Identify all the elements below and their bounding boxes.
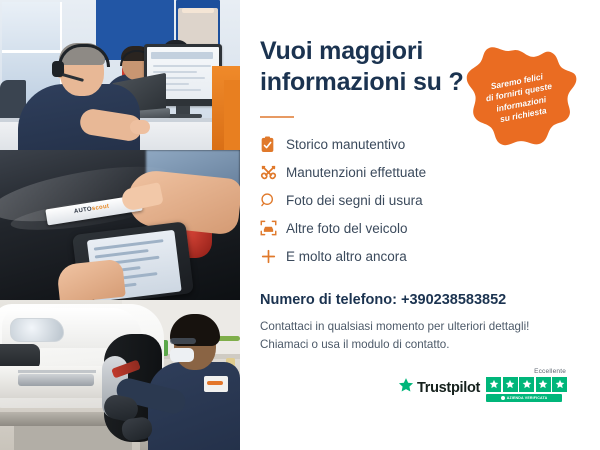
feature-label: E molto altro ancora [286, 249, 407, 264]
trustpilot-rating: Eccellente [486, 368, 567, 402]
phone-number[interactable]: +390238583852 [401, 292, 506, 308]
mechanic-inspecting-wheel-photo [0, 300, 240, 450]
plus-icon [260, 245, 286, 267]
rating-star [519, 377, 534, 392]
promo-card: AUTOscout [0, 0, 600, 450]
contact-subtext-line1: Contattaci in qualsiasi momento per ulte… [260, 318, 576, 336]
feature-label: Manutenzioni effettuate [286, 165, 426, 180]
tools-cross-icon [260, 161, 286, 183]
magnifier-icon [260, 189, 286, 211]
page-title-line2: informazioni su ? [260, 68, 464, 96]
rating-stars [486, 377, 567, 392]
contact-subtext: Contattaci in qualsiasi momento per ulte… [260, 318, 576, 354]
verified-check-icon [501, 396, 505, 400]
trustpilot-logo: Trustpilot [398, 377, 480, 398]
vehicle-inspection-with-tablet-photo: AUTOscout [0, 150, 240, 300]
phone-label: Numero di telefono: [260, 292, 401, 308]
feature-item-storico-manutentivo[interactable]: Storico manutentivo [260, 130, 560, 158]
feature-label: Altre foto del veicolo [286, 221, 408, 236]
verified-business-badge: AZIENDA VERIFICATA [486, 394, 562, 402]
photo-column: AUTOscout [0, 0, 240, 450]
feature-label: Foto dei segni di usura [286, 193, 423, 208]
trustpilot-wordmark: Trustpilot [417, 380, 480, 396]
trustpilot-widget[interactable]: Trustpilot Eccellente [398, 368, 580, 414]
feature-list: Storico manutentivo Manutenzioni effettu… [260, 130, 560, 270]
clipboard-check-icon [260, 133, 286, 155]
trustpilot-star-icon [398, 377, 414, 398]
contact-subtext-line2: Chiamaci o usa il modulo di contatto. [260, 336, 576, 354]
content-panel: Vuoi maggiori informazioni su ? Saremo f… [240, 0, 600, 450]
feature-item-manutenzioni-effettuate[interactable]: Manutenzioni effettuate [260, 158, 560, 186]
title-underline-rule [260, 116, 294, 118]
feature-item-altre-foto-veicolo[interactable]: Altre foto del veicolo [260, 214, 560, 242]
rating-caption: Eccellente [534, 368, 567, 375]
car-scan-frame-icon [260, 217, 286, 239]
phone-line: Numero di telefono: +390238583852 [260, 292, 580, 308]
feature-item-foto-segni-usura[interactable]: Foto dei segni di usura [260, 186, 560, 214]
rating-star [536, 377, 551, 392]
feature-item-molto-altro[interactable]: E molto altro ancora [260, 242, 560, 270]
verified-label: AZIENDA VERIFICATA [507, 396, 548, 400]
rating-star [552, 377, 567, 392]
call-center-agent-with-headset-photo [0, 0, 240, 150]
rating-star [486, 377, 501, 392]
rating-star [503, 377, 518, 392]
feature-label: Storico manutentivo [286, 137, 405, 152]
page-title-line1: Vuoi maggiori [260, 37, 423, 65]
